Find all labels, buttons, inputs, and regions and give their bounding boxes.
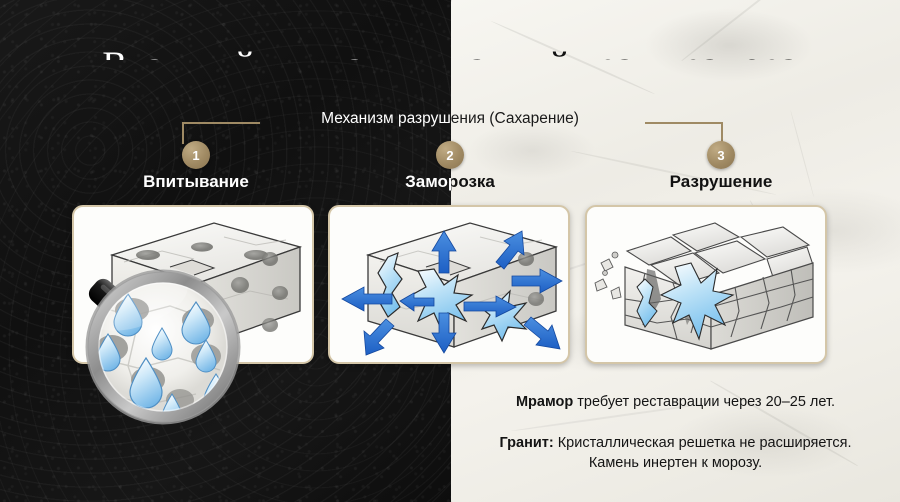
step-badge-2: 2 [436, 141, 464, 169]
footnote-marble-text: требует реставрации через 20–25 лет. [573, 394, 835, 410]
footnote-granite-text: Кристаллическая решетка не расширяется. [554, 435, 852, 451]
step-badge-1: 1 [182, 141, 210, 169]
connector-line-right-horizontal [645, 122, 723, 124]
footnotes-block: Мрамор требует реставрации через 20–25 л… [451, 392, 900, 473]
step-badge-1-number: 1 [192, 148, 199, 163]
footnote-granite-label: Гранит: [499, 435, 553, 451]
footnote-marble: Мрамор требует реставрации через 20–25 л… [451, 392, 900, 412]
connector-line-left-vertical [182, 122, 184, 144]
illustration-panel-freezing [328, 205, 570, 364]
illustration-panel-absorption [72, 205, 314, 364]
slide-canvas: Влажный климат — главный враг мрамора Вл… [0, 0, 900, 502]
footnote-granite: Гранит: Кристаллическая решетка не расши… [451, 433, 900, 453]
footnote-marble-label: Мрамор [516, 394, 573, 410]
subtitle-block: Механизм разрушения (Сахарение) Механизм… [0, 110, 900, 136]
illustration-panel-destruction [585, 205, 827, 364]
step-label-3: Разрушение [621, 172, 821, 192]
step-badge-2-number: 2 [446, 148, 453, 163]
step-badge-3-number: 3 [717, 148, 724, 163]
step-label-1: Впитывание [96, 172, 296, 192]
step-badge-3: 3 [707, 141, 735, 169]
footnote-granite-line2: Камень инертен к морозу. [451, 453, 900, 473]
connector-line-left-horizontal [182, 122, 260, 124]
